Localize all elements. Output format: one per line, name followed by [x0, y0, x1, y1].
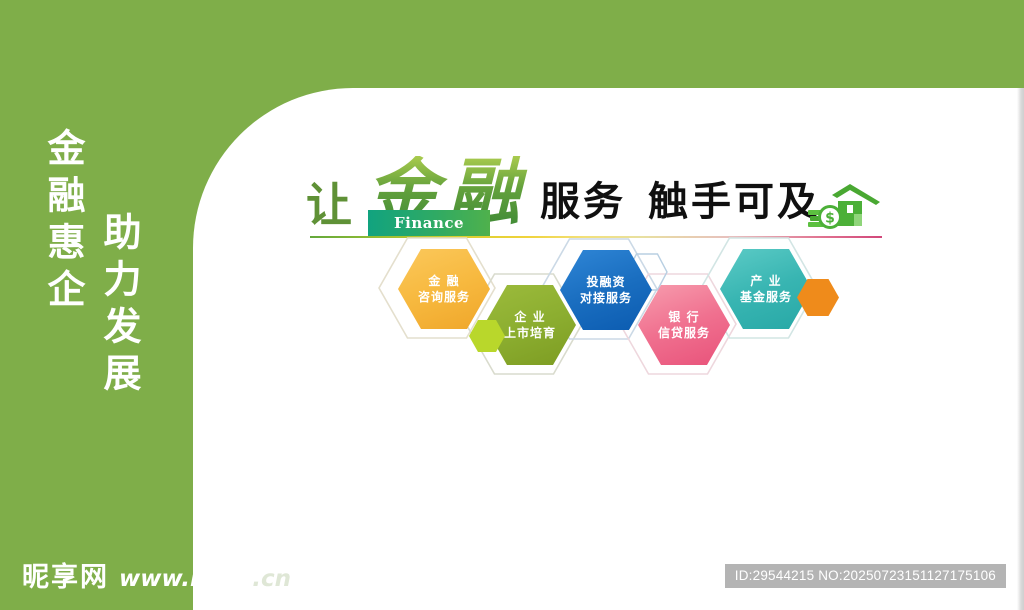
white-content-panel — [193, 88, 1024, 610]
hex-enterprise-listing-line1: 企 业 — [514, 309, 545, 325]
hex-finance-consulting-line1: 金 融 — [428, 273, 459, 289]
headline-tail: 服务触手可及 — [540, 182, 820, 222]
id-badge: ID:29544215 NO:20250723151127175106 — [725, 564, 1006, 588]
svg-text:$: $ — [825, 211, 835, 227]
headline-tail-part1: 服务 — [540, 179, 626, 225]
headline-tail-part2: 触手可及 — [648, 179, 820, 225]
poster-canvas: 金融惠企 助力发展 让 金融 Finance 服务触手可及 $ — [0, 0, 1024, 610]
headline-prefix: 让 — [306, 182, 352, 228]
hex-bank-credit-line2: 信贷服务 — [658, 325, 710, 341]
bank-money-icon: $ — [806, 180, 884, 234]
panel-edge-shadow — [1017, 88, 1024, 610]
hex-bank-credit-line1: 银 行 — [668, 309, 699, 325]
hex-industry-fund-line2: 基金服务 — [740, 289, 792, 305]
hex-enterprise-listing-line2: 上市培育 — [504, 325, 556, 341]
hex-finance-consulting-line2: 咨询服务 — [418, 289, 470, 305]
hex-investment-financing-line2: 对接服务 — [580, 290, 632, 306]
vertical-slogan-primary: 金融惠企 — [44, 128, 82, 316]
finance-tag-bar: Finance — [368, 210, 490, 236]
finance-tag-label: Finance — [394, 214, 464, 232]
watermark-site-name: 昵享网 — [22, 555, 109, 594]
hex-industry-fund-line1: 产 业 — [750, 273, 781, 289]
watermark: 昵享网 www.nipic.cn — [22, 555, 291, 594]
hex-investment-financing-line1: 投融资 — [586, 274, 625, 290]
watermark-url-tld: .cn — [252, 566, 291, 592]
watermark-url: www.nipic.cn — [119, 566, 291, 592]
vertical-slogan-secondary: 助力发展 — [100, 212, 138, 400]
watermark-url-main: www.nipic — [119, 566, 252, 592]
